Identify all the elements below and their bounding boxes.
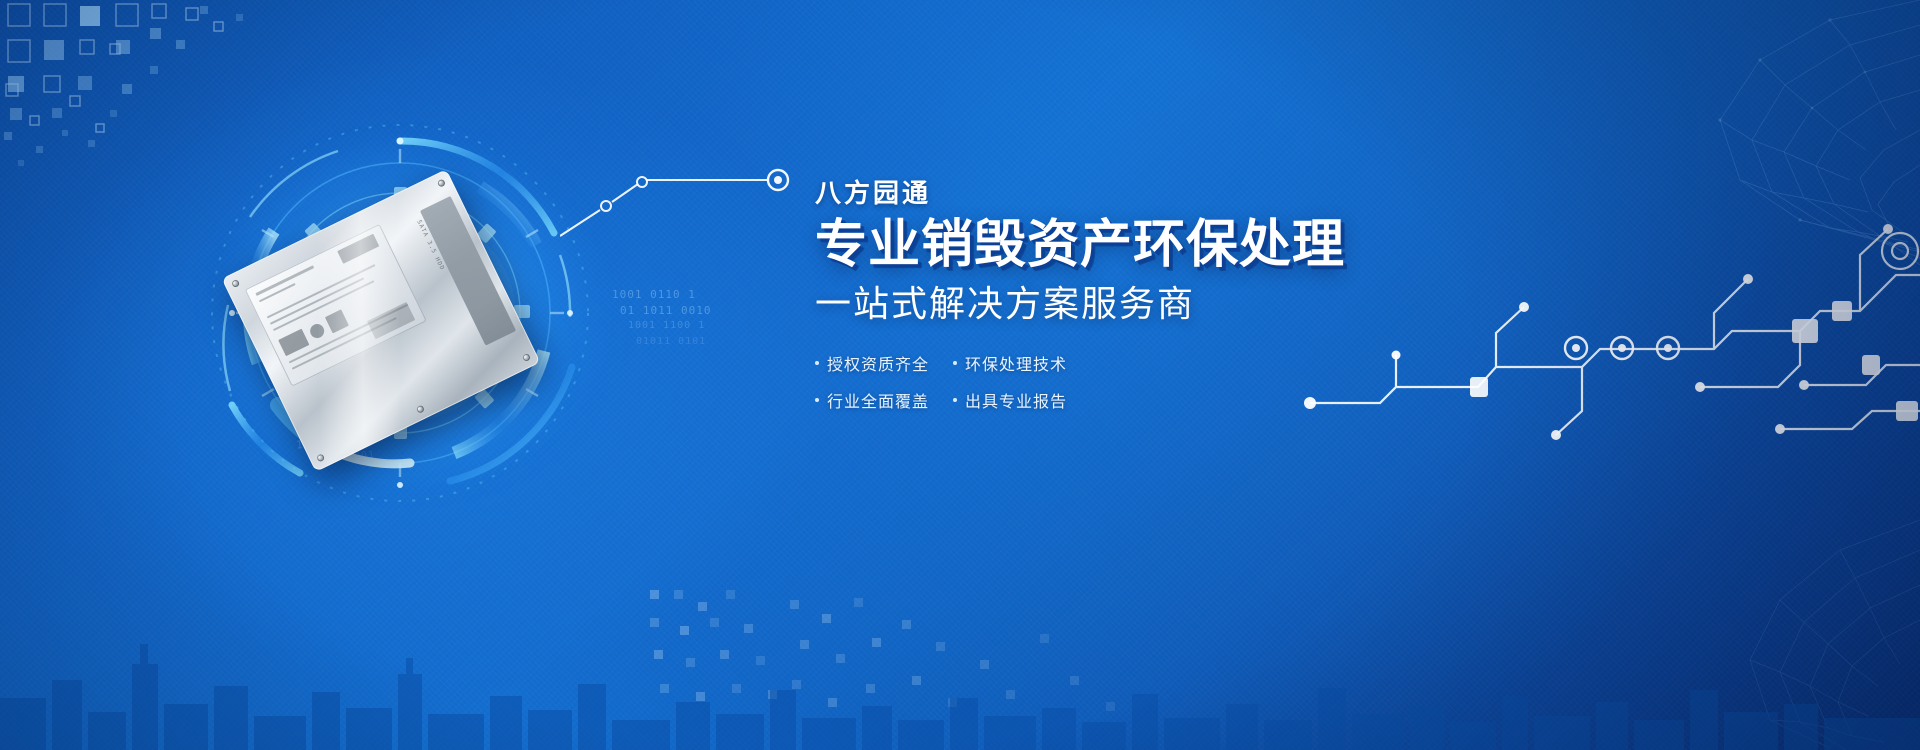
page-subtitle: 一站式解决方案服务商 xyxy=(815,283,1415,324)
feature-label: 环保处理技术 xyxy=(965,351,1067,375)
brand-name: 八方园通 xyxy=(815,180,1415,206)
city-skyline-silhouette xyxy=(0,620,1920,750)
bullet-dot-icon xyxy=(953,361,957,365)
feature-item: 环保处理技术 xyxy=(953,351,1067,375)
hard-drive-graphic: SATA 3.5 HDD xyxy=(150,105,670,525)
hero-banner: 1001001 100 1 1011 001 0110 1001 1001 01… xyxy=(0,0,1920,750)
bullet-dot-icon xyxy=(815,361,819,365)
feature-item: 授权资质齐全 xyxy=(815,351,953,375)
feature-item: 行业全面覆盖 xyxy=(815,388,953,412)
feature-item: 出具专业报告 xyxy=(953,388,1067,412)
dot-grid xyxy=(640,580,1160,750)
feature-label: 行业全面覆盖 xyxy=(827,388,929,412)
hero-copy: 八方园通 专业销毁资产环保处理 一站式解决方案服务商 授权资质齐全 环保处理技术… xyxy=(815,180,1415,425)
page-title: 专业销毁资产环保处理 xyxy=(815,218,1415,273)
topographic-wireframe-top xyxy=(1360,0,1920,300)
feature-list: 授权资质齐全 环保处理技术 行业全面覆盖 出具专业报告 xyxy=(815,351,1415,412)
bullet-dot-icon xyxy=(815,398,819,402)
feature-row: 行业全面覆盖 出具专业报告 xyxy=(815,388,1415,412)
topographic-wireframe-bottom xyxy=(1400,490,1920,750)
feature-label: 授权资质齐全 xyxy=(827,351,929,375)
feature-row: 授权资质齐全 环保处理技术 xyxy=(815,351,1415,375)
bullet-dot-icon xyxy=(953,398,957,402)
feature-label: 出具专业报告 xyxy=(965,388,1067,412)
